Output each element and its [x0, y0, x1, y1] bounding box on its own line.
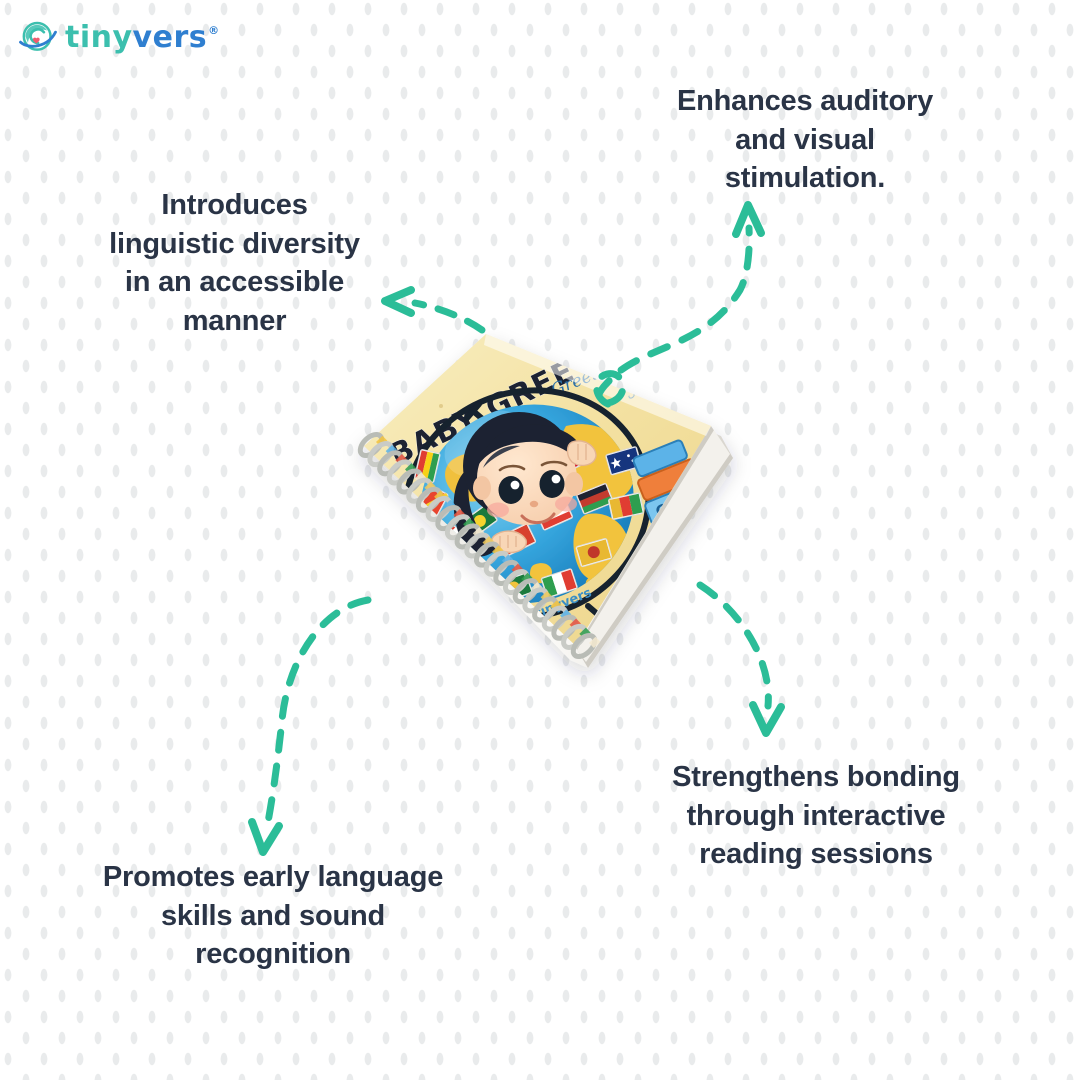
logo-text-vers: vers — [133, 23, 208, 53]
callout-enhances-auditory: Enhances auditory and visual stimulation… — [620, 82, 990, 198]
callout-introduces-linguistic: Introduces linguistic diversity in an ac… — [62, 186, 407, 340]
callout-line: through interactive — [630, 797, 1002, 836]
product-image-baby-greetings-book: BABY GREETINGS Greetings ل — [236, 318, 784, 748]
callout-promotes-language: Promotes early language skills and sound… — [48, 858, 498, 974]
callout-line: recognition — [48, 935, 498, 974]
baby-eye-right — [540, 470, 565, 498]
tinyvers-globe-heart-icon — [18, 18, 58, 58]
baby-eye-left — [499, 476, 524, 504]
callout-line: reading sessions — [630, 835, 1002, 874]
logo-text-tiny: tiny — [65, 23, 133, 53]
callout-line: Strengthens bonding — [630, 758, 1002, 797]
registered-trademark-symbol: ® — [208, 25, 220, 36]
callout-line: manner — [62, 302, 407, 341]
brand-logo[interactable]: tinyvers® — [18, 18, 220, 58]
callout-line: stimulation. — [620, 159, 990, 198]
callout-line: in an accessible — [62, 263, 407, 302]
callout-line: Promotes early language — [48, 858, 498, 897]
callout-line: skills and sound — [48, 897, 498, 936]
callout-line: Introduces — [62, 186, 407, 225]
callout-strengthens-bonding: Strengthens bonding through interactive … — [630, 758, 1002, 874]
callout-line: linguistic diversity — [62, 225, 407, 264]
callout-line: Enhances auditory — [620, 82, 990, 121]
callout-line: and visual — [620, 121, 990, 160]
tinyvers-wordmark: tinyvers® — [65, 23, 220, 53]
